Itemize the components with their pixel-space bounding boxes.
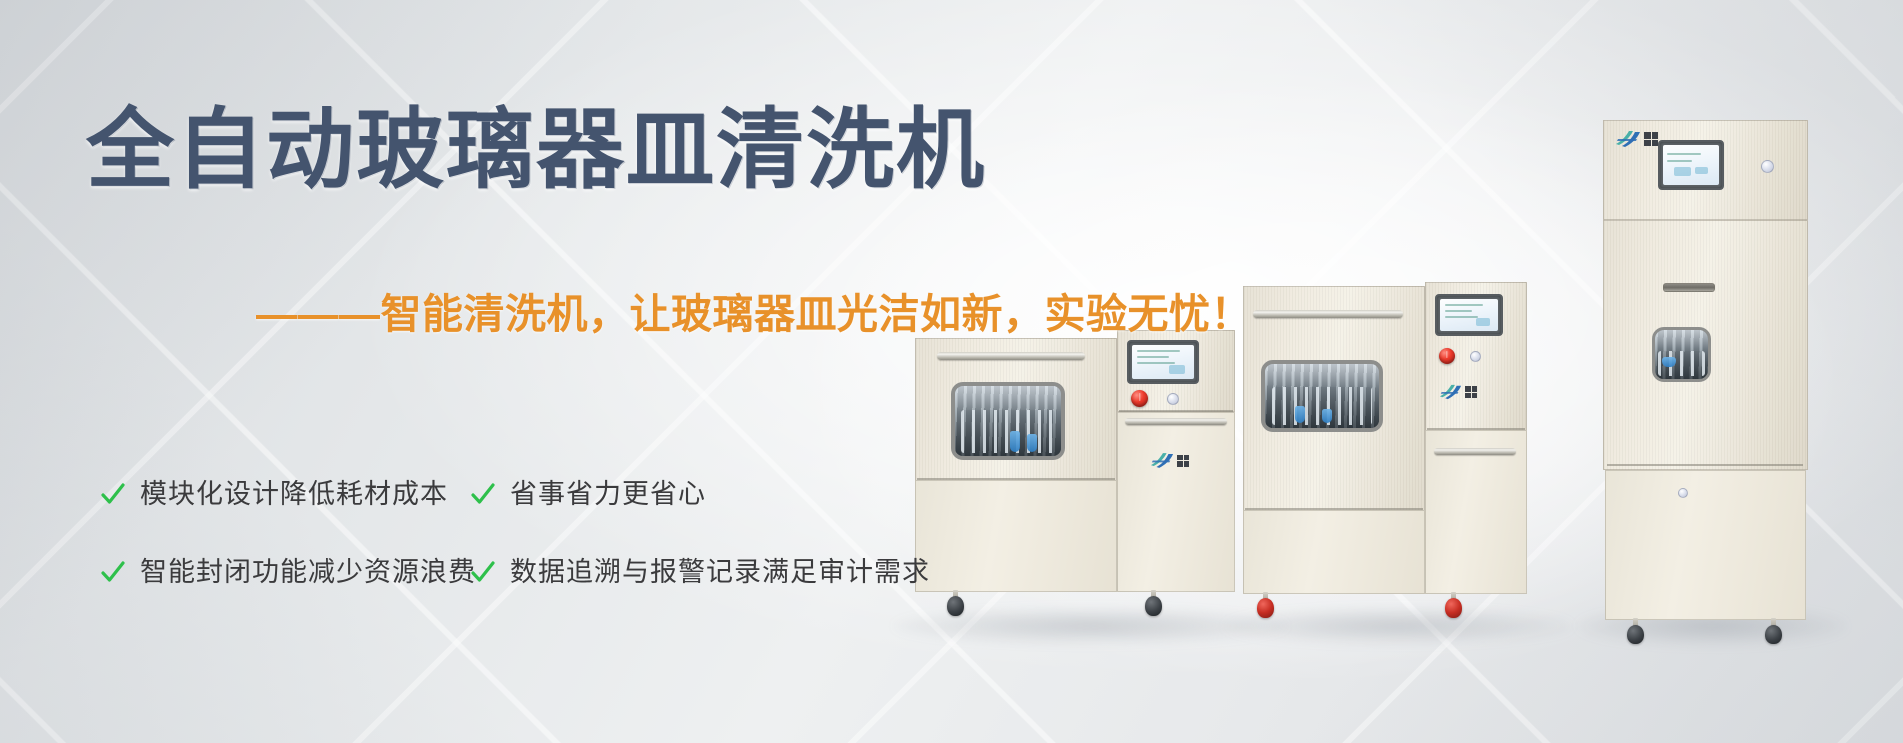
logo-grid-icon [1644,132,1658,146]
logo-grid-icon [1465,386,1477,398]
tall-column-glassware-washer [1603,120,1808,632]
check-icon [470,559,496,585]
touchscreen-display[interactable] [1658,140,1724,190]
lower-drawer-panel [1243,510,1425,594]
brand-h-logo [1439,384,1477,400]
indicator-button[interactable] [1470,351,1481,362]
viewing-window [1652,327,1711,382]
feature-label: 模块化设计降低耗材成本 [140,481,448,508]
brand-h-logo [1150,452,1189,469]
feature-label: 数据追溯与报警记录满足审计需求 [510,559,930,586]
feature-item-2: 省事省力更省心 [470,481,890,508]
service-door-handle[interactable] [1125,418,1227,425]
viewing-window [1261,360,1383,432]
feature-item-1: 模块化设计降低耗材成本 [100,481,470,508]
emergency-stop-button[interactable] [1439,348,1455,364]
machine-base-cabinet [1605,470,1806,620]
indicator-button[interactable] [1167,393,1179,405]
feature-item-3: 智能封闭功能减少资源浪费 [100,559,470,586]
service-door-handle[interactable] [1434,448,1516,455]
caster-wheel [1445,598,1462,618]
banner-subheadline: ———智能清洗机，让玻璃器皿光洁如新，实验无忧！ [256,290,1252,339]
air-vent-slot [1663,283,1715,292]
emergency-stop-button[interactable] [1131,390,1148,407]
feature-label: 省事省力更省心 [510,481,706,508]
touchscreen-display[interactable] [1127,340,1199,384]
door-handle[interactable] [1253,310,1403,318]
service-door[interactable] [1117,412,1235,592]
banner-text-block: 全自动玻璃器皿清洗机 ———智能清洗机，让玻璃器皿光洁如新，实验无忧！ 模块化设… [0,0,1080,743]
check-icon [100,481,126,507]
feature-label: 智能封闭功能减少资源浪费 [140,559,476,586]
caster-wheel [1627,625,1644,644]
check-icon [100,559,126,585]
indicator-button[interactable] [1761,160,1774,173]
check-icon [470,481,496,507]
feature-item-4: 数据追溯与报警记录满足审计需求 [470,559,890,586]
feature-list: 模块化设计降低耗材成本 省事省力更省心 智能封闭功能减少资源浪费 [100,462,980,604]
panel-seam [1607,464,1803,466]
caster-wheel [1145,596,1162,616]
caster-wheel [1765,625,1782,644]
touchscreen-display[interactable] [1435,294,1503,336]
brand-h-logo [1615,130,1658,148]
base-lock-button[interactable] [1678,488,1688,498]
product-banner: 全自动玻璃器皿清洗机 ———智能清洗机，让玻璃器皿光洁如新，实验无忧！ 模块化设… [0,0,1903,743]
banner-headline: 全自动玻璃器皿清洗机 [86,104,986,196]
freestanding-glassware-washer [1243,272,1543,632]
logo-grid-icon [1177,455,1189,467]
